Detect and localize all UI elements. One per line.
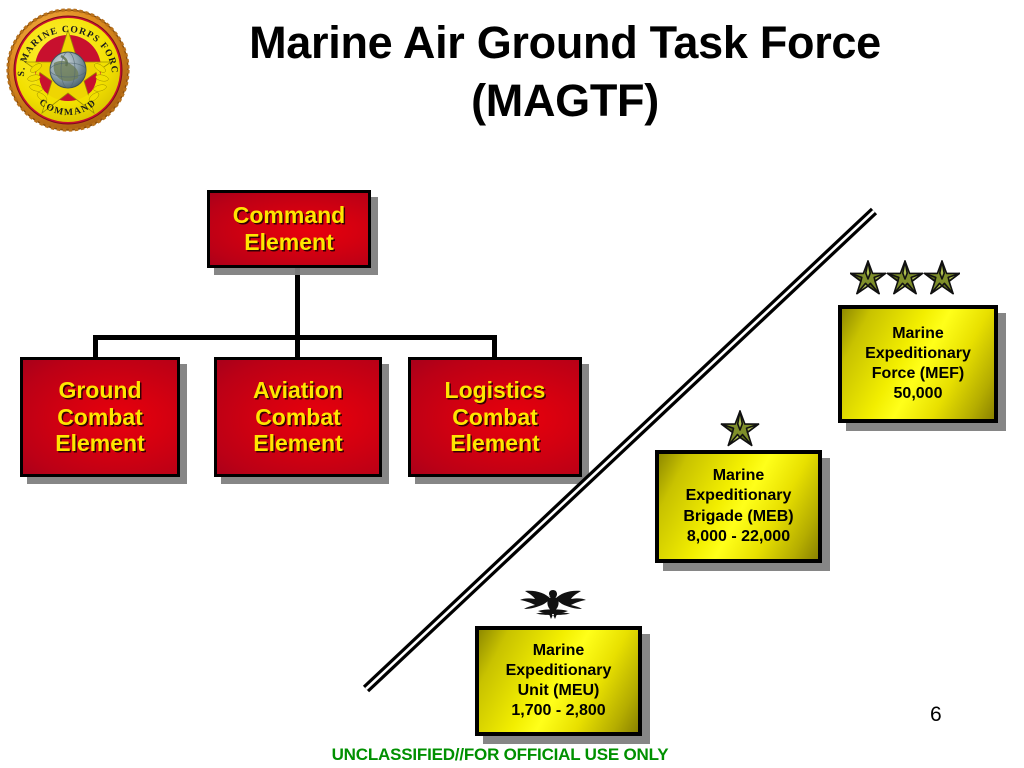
node-ground-combat-element[interactable]: Ground Combat Element [20, 357, 180, 477]
node-logistics-combat-element-line-3: Element [450, 430, 539, 457]
connector-drop-logistics [492, 335, 497, 359]
slide-canvas: U.S. MARINE CORPS FORCES COMMAND Marine … [0, 0, 1024, 768]
mef-strength: 50,000 [894, 384, 943, 404]
node-logistics-combat-element[interactable]: Logistics Combat Element [408, 357, 582, 477]
marforcom-seal-logo: U.S. MARINE CORPS FORCES COMMAND [6, 8, 130, 132]
meu-line-2: Expeditionary [506, 661, 612, 681]
node-marine-expeditionary-force[interactable]: Marine Expeditionary Force (MEF) 50,000 [838, 305, 998, 423]
mef-line-2: Expeditionary [865, 344, 971, 364]
node-aviation-combat-element-line-2: Combat [255, 404, 341, 431]
classification-banner: UNCLASSIFIED//FOR OFFICIAL USE ONLY [0, 745, 1000, 765]
three-star-insignia [850, 258, 960, 300]
node-ground-combat-element-line-3: Element [55, 430, 144, 457]
one-star-insignia [718, 410, 762, 450]
meu-line-3: Unit (MEU) [518, 681, 600, 701]
connector-root-stem [295, 268, 300, 339]
node-aviation-combat-element-line-1: Aviation [253, 377, 343, 404]
node-command-element-line-2: Element [244, 229, 333, 256]
node-command-element[interactable]: Command Element [207, 190, 371, 268]
meu-line-1: Marine [533, 641, 585, 661]
meb-strength: 8,000 - 22,000 [687, 527, 790, 547]
node-logistics-combat-element-line-1: Logistics [445, 377, 546, 404]
node-ground-combat-element-line-2: Combat [57, 404, 143, 431]
mef-line-3: Force (MEF) [872, 364, 964, 384]
node-aviation-combat-element-line-3: Element [253, 430, 342, 457]
title-line-1: Marine Air Ground Task Force [150, 14, 980, 72]
connector-drop-ground [93, 335, 98, 359]
node-marine-expeditionary-unit[interactable]: Marine Expeditionary Unit (MEU) 1,700 - … [475, 626, 642, 736]
meb-line-3: Brigade (MEB) [683, 507, 793, 527]
node-ground-combat-element-line-1: Ground [58, 377, 141, 404]
meb-line-1: Marine [713, 466, 765, 486]
meu-strength: 1,700 - 2,800 [511, 701, 605, 721]
slide-title: Marine Air Ground Task Force (MAGTF) [150, 14, 980, 129]
page-number: 6 [930, 703, 942, 727]
node-marine-expeditionary-brigade[interactable]: Marine Expeditionary Brigade (MEB) 8,000… [655, 450, 822, 563]
connector-drop-aviation [295, 335, 300, 359]
title-line-2: (MAGTF) [150, 72, 980, 130]
node-logistics-combat-element-line-2: Combat [452, 404, 538, 431]
eagle-colonel-insignia [518, 587, 588, 623]
meb-line-2: Expeditionary [686, 486, 792, 506]
node-command-element-line-1: Command [233, 202, 345, 229]
mef-line-1: Marine [892, 324, 944, 344]
node-aviation-combat-element[interactable]: Aviation Combat Element [214, 357, 382, 477]
